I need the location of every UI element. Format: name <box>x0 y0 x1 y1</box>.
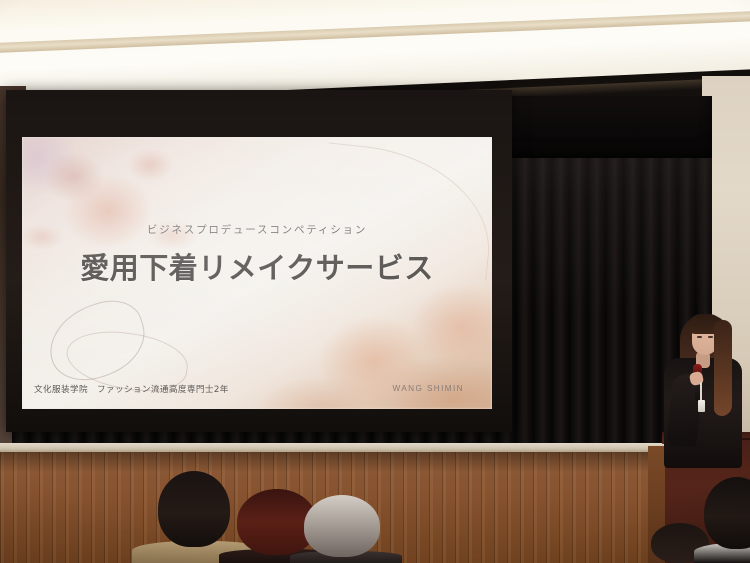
slide-footer-presenter-name: WANG SHIMIN <box>393 384 465 393</box>
projection-screen: ビジネスプロデュースコンペティション 愛用下着リメイクサービス 文化服装学院 フ… <box>22 137 492 409</box>
lanyard-strap <box>700 382 702 402</box>
auditorium-photo: ビジネスプロデュースコンペティション 愛用下着リメイクサービス 文化服装学院 フ… <box>0 0 750 563</box>
presenter-at-podium <box>660 300 744 465</box>
name-badge <box>698 400 705 412</box>
slide-subtitle: ビジネスプロデュースコンペティション <box>22 222 492 237</box>
presenter-hair-side <box>714 320 732 416</box>
audience-member <box>700 479 750 563</box>
audience-member <box>294 495 394 563</box>
audience-head <box>304 495 380 557</box>
presenter-eye-right <box>708 336 713 338</box>
stage-front-shadow <box>0 452 750 472</box>
audience-head <box>158 471 230 547</box>
presenter-eye-left <box>697 336 702 338</box>
slide-title: 愛用下着リメイクサービス <box>22 245 492 287</box>
slide-footer-affiliation: 文化服装学院 ファッション流通高度専門士2年 <box>34 383 229 395</box>
audience-head <box>704 477 750 549</box>
